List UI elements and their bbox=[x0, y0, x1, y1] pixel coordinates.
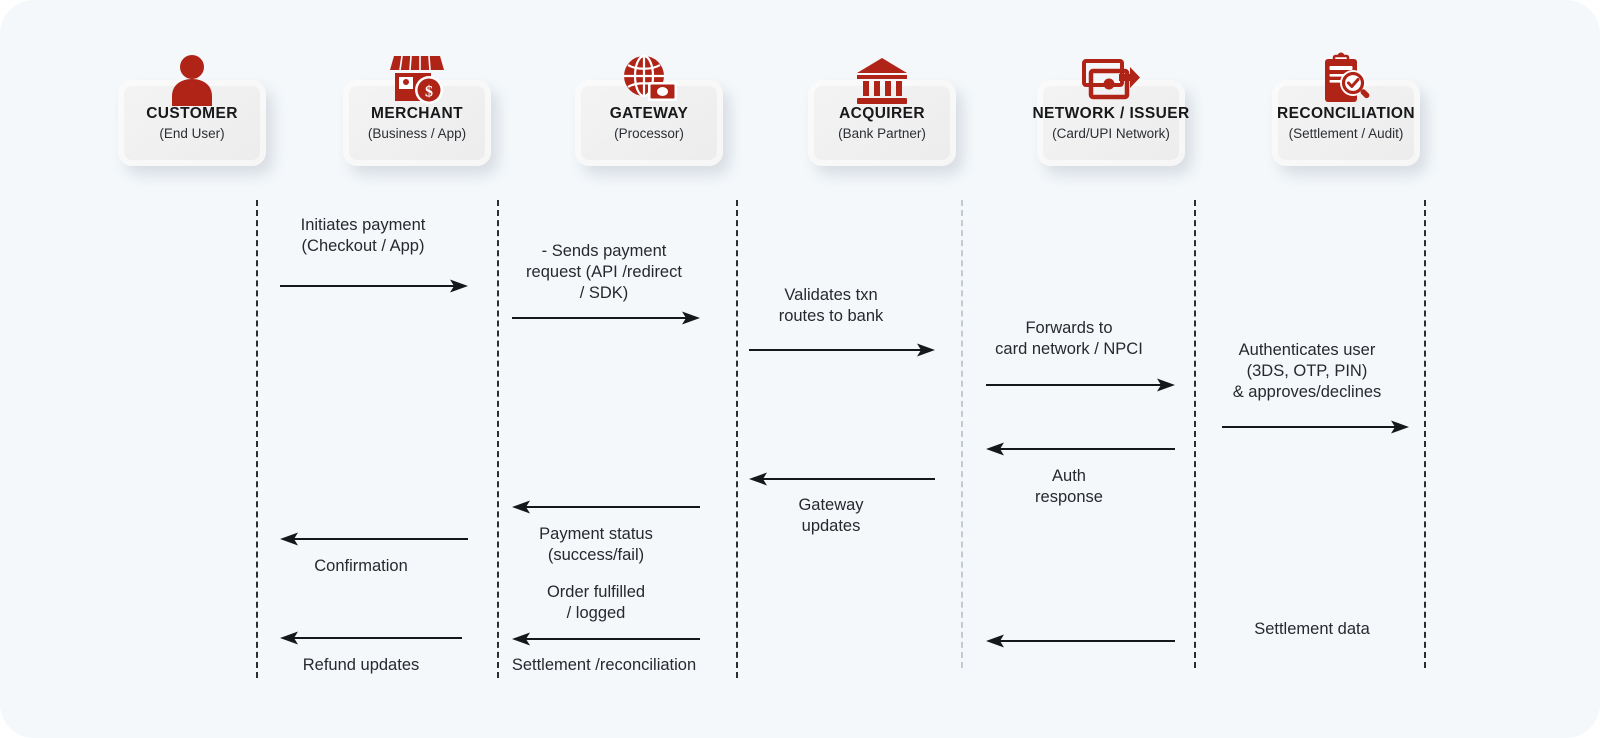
lifeline-gateway bbox=[736, 200, 738, 678]
actor-customer[interactable]: CUSTOMER (End User) bbox=[118, 80, 266, 166]
message-arrow-left bbox=[280, 532, 468, 546]
lifeline-customer bbox=[256, 200, 258, 678]
sequence-diagram-canvas: CUSTOMER (End User) $ MERCHANT bbox=[0, 0, 1600, 738]
clipboard-check-icon bbox=[1315, 44, 1377, 106]
message-arrow-left bbox=[280, 631, 462, 645]
actor-merchant[interactable]: $ MERCHANT (Business / App) bbox=[343, 80, 491, 166]
message-label: Forwards to card network / NPCI bbox=[995, 318, 1143, 360]
message-label: Auth response bbox=[1035, 466, 1103, 508]
message-arrow-left bbox=[986, 442, 1175, 456]
actor-title: GATEWAY bbox=[610, 105, 689, 122]
globe-money-icon bbox=[618, 44, 680, 106]
message-arrow-right bbox=[280, 279, 468, 293]
message-label: Confirmation bbox=[314, 556, 408, 577]
actor-title: CUSTOMER bbox=[146, 105, 238, 122]
actor-title: RECONCILIATION bbox=[1277, 105, 1415, 122]
person-icon bbox=[161, 44, 223, 106]
message-arrow-left bbox=[749, 472, 935, 486]
actor-subtitle: (End User) bbox=[159, 127, 224, 142]
lifeline-reconciliation bbox=[1424, 200, 1426, 668]
message-arrow-right bbox=[749, 343, 935, 357]
storefront-icon: $ bbox=[386, 44, 448, 106]
actor-subtitle: (Bank Partner) bbox=[838, 127, 926, 142]
message-label: Authenticates user (3DS, OTP, PIN) & app… bbox=[1233, 340, 1382, 403]
bank-icon bbox=[851, 44, 913, 106]
lifeline-merchant bbox=[497, 200, 499, 678]
message-arrow-right bbox=[986, 378, 1175, 392]
actor-subtitle: (Business / App) bbox=[368, 127, 466, 142]
actor-title: NETWORK / ISSUER bbox=[1032, 105, 1189, 122]
message-label: Payment status (success/fail) bbox=[539, 524, 653, 566]
card-transfer-icon bbox=[1080, 44, 1142, 106]
actor-acquirer[interactable]: ACQUIRER (Bank Partner) bbox=[808, 80, 956, 166]
message-label: Settlement /reconciliation bbox=[512, 655, 696, 676]
lifeline-network bbox=[1194, 200, 1196, 668]
message-label: Gateway updates bbox=[798, 495, 863, 537]
message-label: Initiates payment (Checkout / App) bbox=[301, 215, 426, 257]
actor-subtitle: (Processor) bbox=[614, 127, 684, 142]
message-arrow-right bbox=[512, 311, 700, 325]
message-label: - Sends payment request (API /redirect /… bbox=[526, 241, 682, 304]
actor-subtitle: (Settlement / Audit) bbox=[1289, 127, 1404, 142]
lifeline-acquirer bbox=[961, 200, 963, 668]
message-arrow-left bbox=[512, 500, 700, 514]
actor-gateway[interactable]: GATEWAY (Processor) bbox=[575, 80, 723, 166]
svg-text:$: $ bbox=[425, 84, 433, 101]
message-label: Validates txn routes to bank bbox=[779, 285, 884, 327]
message-arrow-left bbox=[986, 634, 1175, 648]
message-label: Settlement data bbox=[1254, 619, 1370, 640]
actor-reconciliation[interactable]: RECONCILIATION (Settlement / Audit) bbox=[1272, 80, 1420, 166]
actor-title: MERCHANT bbox=[371, 105, 463, 122]
message-label: Refund updates bbox=[303, 655, 420, 676]
actor-network-issuer[interactable]: NETWORK / ISSUER (Card/UPI Network) bbox=[1037, 80, 1185, 166]
message-label: Order fulfilled / logged bbox=[547, 582, 645, 624]
actor-title: ACQUIRER bbox=[839, 105, 925, 122]
message-arrow-right bbox=[1222, 420, 1409, 434]
message-arrow-left bbox=[512, 632, 700, 646]
actor-subtitle: (Card/UPI Network) bbox=[1052, 127, 1170, 142]
